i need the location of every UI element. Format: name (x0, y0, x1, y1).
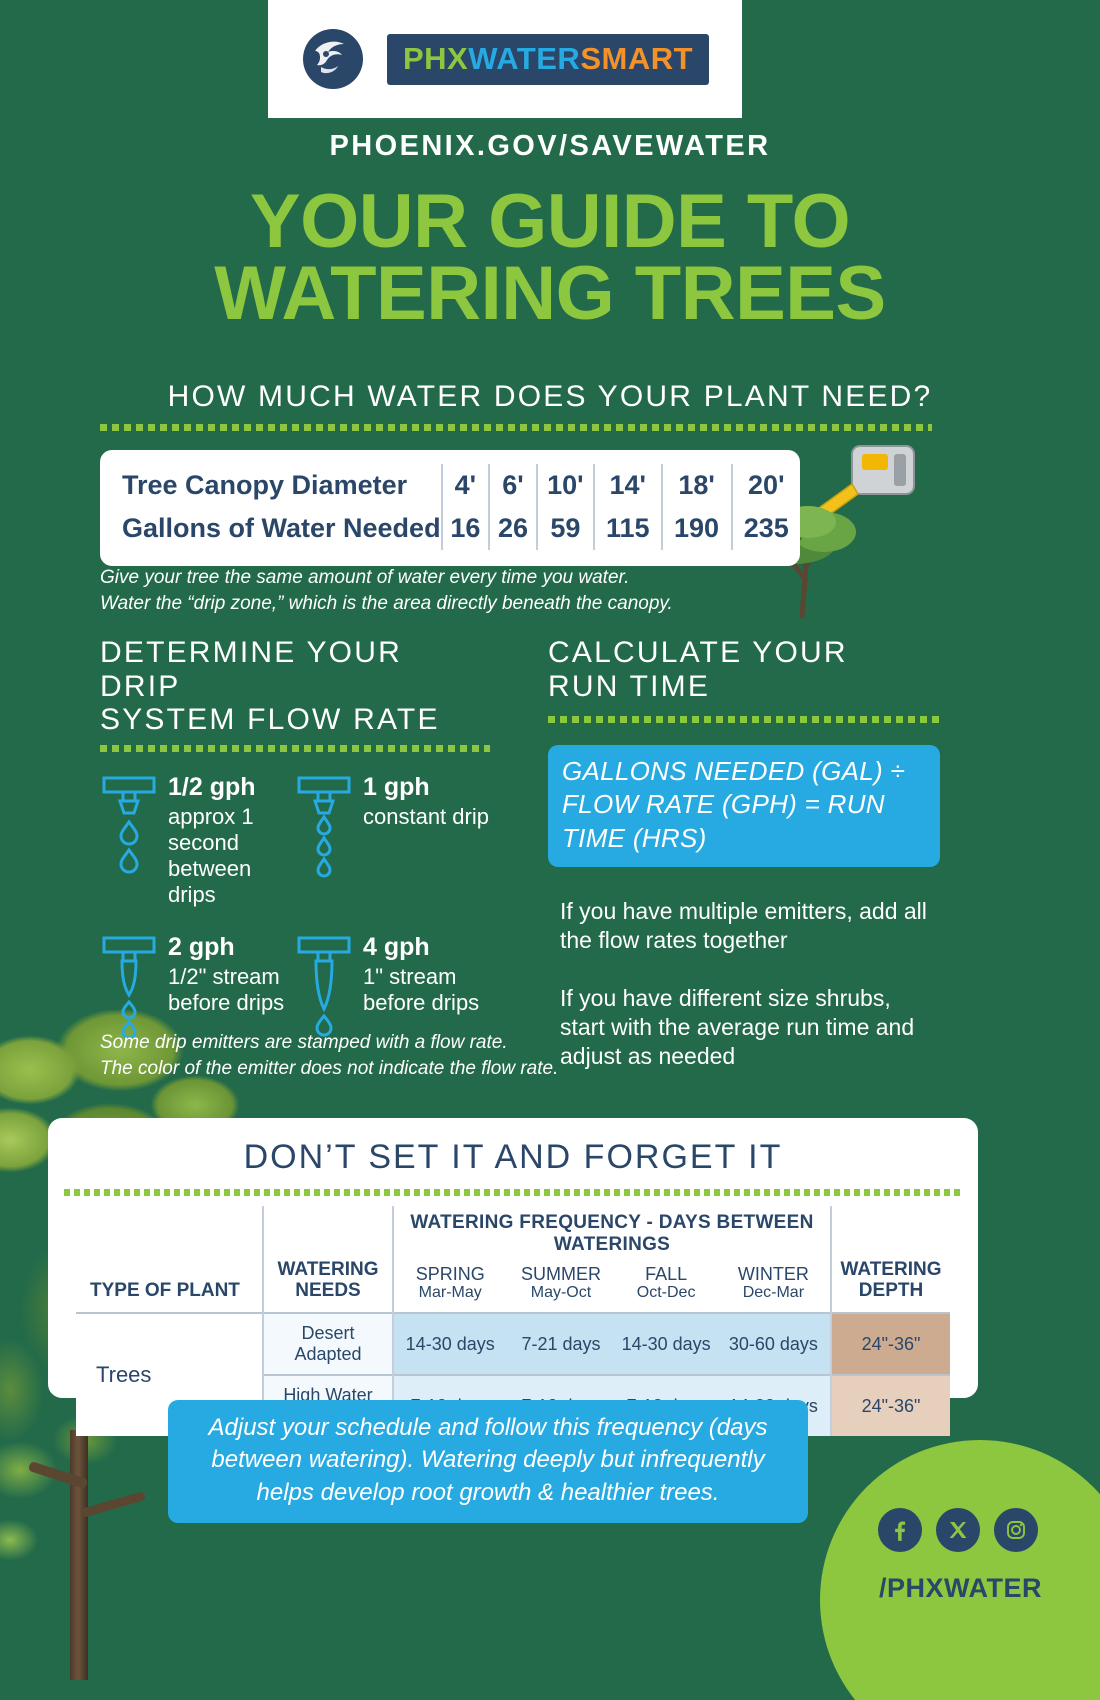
col-header-fall: FALL Oct-Dec (616, 1258, 717, 1313)
gallons-cell-5: 235 (732, 507, 800, 550)
season-name-spring: SPRING (398, 1264, 502, 1284)
season-months-winter: Dec-Mar (721, 1284, 826, 1302)
wordmark-phx: PHX (403, 41, 468, 76)
col-header-spring: SPRING Mar-May (393, 1258, 506, 1313)
gallons-cell-1: 26 (489, 507, 537, 550)
how-much-heading: HOW MUCH WATER DOES YOUR PLANT NEED? (0, 380, 1100, 414)
table-row-gallons: Gallons of Water Needed 16 26 59 115 190… (100, 507, 800, 550)
drip-emitter-icon (100, 934, 158, 1043)
emitter-item-1-gph: 1 gph constant drip (295, 774, 490, 908)
canopy-cell-1: 6' (489, 464, 537, 507)
adjust-schedule-callout: Adjust your schedule and follow this fre… (168, 1400, 808, 1523)
cell-winter: 30-60 days (717, 1313, 831, 1375)
page-title: YOUR GUIDE TO WATERING TREES (0, 186, 1100, 330)
watering-needs-line1: WATERING (278, 1259, 379, 1280)
run-time-section: CALCULATE YOUR RUN TIME GALLONS NEEDED (… (548, 636, 940, 1071)
drip-zone-note-line1: Give your tree the same amount of water … (100, 565, 740, 591)
cell-depth: 24"-36" (831, 1375, 950, 1436)
schedule-panel: DON’T SET IT AND FORGET IT TYPE OF PLANT… (48, 1118, 978, 1398)
divider-schedule (64, 1189, 962, 1196)
emitter-rate: 1 gph (363, 774, 489, 800)
flow-rate-heading: DETERMINE YOUR DRIP SYSTEM FLOW RATE (100, 636, 490, 737)
canopy-cell-0: 4' (442, 464, 490, 507)
emitter-desc: constant drip (363, 804, 489, 830)
canopy-cell-2: 10' (537, 464, 594, 507)
table-row: Trees Desert Adapted 14-30 days 7-21 day… (76, 1313, 950, 1375)
cell-spring: 14-30 days (393, 1313, 506, 1375)
emitter-rate: 2 gph (168, 934, 295, 960)
social-links (878, 1508, 1038, 1552)
season-name-winter: WINTER (721, 1264, 826, 1284)
season-name-fall: FALL (620, 1264, 713, 1284)
col-header-frequency-group: WATERING FREQUENCY - DAYS BETWEEN WATERI… (393, 1206, 831, 1258)
gallons-table-card: Tree Canopy Diameter 4' 6' 10' 14' 18' 2… (100, 450, 800, 566)
drip-zone-note-line2: Water the “drip zone,” which is the area… (100, 591, 740, 617)
gallons-table: Tree Canopy Diameter 4' 6' 10' 14' 18' 2… (100, 464, 800, 550)
divider-flow-rate (100, 745, 490, 752)
divider-how-much (100, 424, 932, 431)
social-handle: /PHXWATER (879, 1573, 1042, 1604)
divider-run-time (548, 716, 940, 723)
gallons-cell-2: 59 (537, 507, 594, 550)
row-label-gallons: Gallons of Water Needed (100, 507, 442, 550)
run-time-heading-line1: CALCULATE YOUR (548, 636, 940, 670)
tree-trunk-decoration (70, 1430, 88, 1680)
green-circle-decoration (820, 1440, 1100, 1700)
season-months-fall: Oct-Dec (620, 1284, 713, 1302)
page-title-line2: WATERING TREES (0, 258, 1100, 330)
row-label-canopy: Tree Canopy Diameter (100, 464, 442, 507)
instagram-icon[interactable] (994, 1508, 1038, 1552)
canopy-cell-4: 18' (662, 464, 732, 507)
wordmark-water: WATER (468, 41, 580, 76)
canopy-cell-5: 20' (732, 464, 800, 507)
emitter-rate: 1/2 gph (168, 774, 295, 800)
col-header-summer: SUMMER May-Oct (506, 1258, 615, 1313)
watering-depth-line2: DEPTH (859, 1280, 923, 1301)
gallons-cell-4: 190 (662, 507, 732, 550)
cell-needs: Desert Adapted (263, 1313, 393, 1375)
drip-emitter-icon (295, 774, 353, 908)
brand-logo-card: PHXWATERSMART (268, 0, 742, 118)
season-months-spring: Mar-May (398, 1284, 502, 1302)
canopy-cell-3: 14' (594, 464, 662, 507)
cell-fall: 14-30 days (616, 1313, 717, 1375)
watering-needs-line2: NEEDS (295, 1280, 360, 1301)
emitter-desc: 1" stream before drips (363, 964, 490, 1016)
run-time-note-1: If you have multiple emitters, add all t… (548, 897, 940, 955)
facebook-icon[interactable] (878, 1508, 922, 1552)
col-header-winter: WINTER Dec-Mar (717, 1258, 831, 1313)
season-name-summer: SUMMER (510, 1264, 611, 1284)
col-header-watering-needs: WATERING NEEDS (263, 1206, 393, 1313)
emitter-rate: 4 gph (363, 934, 490, 960)
flow-rate-heading-line2: SYSTEM FLOW RATE (100, 703, 490, 737)
drip-emitter-icon (100, 774, 158, 908)
page-title-line1: YOUR GUIDE TO (0, 186, 1100, 258)
run-time-formula: GALLONS NEEDED (GAL) ÷ FLOW RATE (GPH) =… (548, 745, 940, 867)
emitter-item-half-gph: 1/2 gph approx 1 second between drips (100, 774, 295, 908)
schedule-title: DON’T SET IT AND FORGET IT (48, 1118, 978, 1177)
x-twitter-icon[interactable] (936, 1508, 980, 1552)
drip-zone-note: Give your tree the same amount of water … (100, 565, 740, 616)
run-time-heading-line2: RUN TIME (548, 670, 940, 704)
run-time-note-2: If you have different size shrubs, start… (548, 984, 940, 1070)
phx-water-smart-wordmark: PHXWATERSMART (387, 34, 709, 85)
col-header-watering-depth: WATERING DEPTH (831, 1206, 950, 1313)
cell-summer: 7-21 days (506, 1313, 615, 1375)
website-url: PHOENIX.GOV/SAVEWATER (0, 130, 1100, 163)
phoenix-bird-icon (301, 27, 365, 91)
table-row-canopy: Tree Canopy Diameter 4' 6' 10' 14' 18' 2… (100, 464, 800, 507)
wordmark-smart: SMART (580, 41, 693, 76)
emitter-desc: approx 1 second between drips (168, 804, 295, 908)
gallons-cell-0: 16 (442, 507, 490, 550)
season-months-summer: May-Oct (510, 1284, 611, 1302)
emitter-item-2-gph: 2 gph 1/2" stream before drips (100, 934, 295, 1043)
gallons-cell-3: 115 (594, 507, 662, 550)
drip-emitter-icon (295, 934, 353, 1043)
emitter-desc: 1/2" stream before drips (168, 964, 295, 1016)
run-time-heading: CALCULATE YOUR RUN TIME (548, 636, 940, 708)
infographic-page: PHXWATERSMART PHOENIX.GOV/SAVEWATER YOUR… (0, 0, 1100, 1700)
watering-depth-line1: WATERING (841, 1259, 942, 1280)
col-header-type-of-plant: TYPE OF PLANT (76, 1206, 263, 1313)
emitter-item-4-gph: 4 gph 1" stream before drips (295, 934, 490, 1043)
table-group-header-row: TYPE OF PLANT WATERING NEEDS WATERING FR… (76, 1206, 950, 1258)
cell-depth: 24"-36" (831, 1313, 950, 1375)
flow-rate-section: DETERMINE YOUR DRIP SYSTEM FLOW RATE 1/2… (100, 636, 490, 1069)
flow-rate-heading-line1: DETERMINE YOUR DRIP (100, 636, 490, 703)
emitter-list: 1/2 gph approx 1 second between drips (100, 774, 490, 1069)
